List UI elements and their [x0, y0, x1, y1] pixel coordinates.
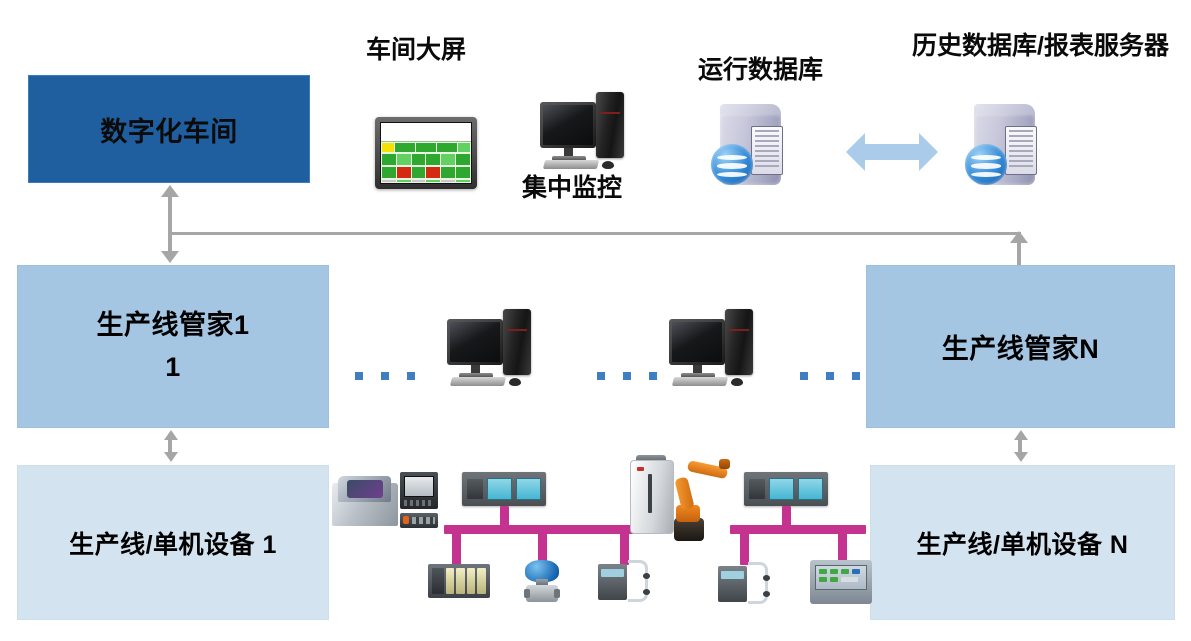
database-server-icon-runtime	[714, 104, 792, 188]
fieldbus-drop-transmitter	[538, 525, 547, 565]
box-digital-workshop[interactable]: 数字化车间	[28, 75, 310, 183]
desktop-pc-icon-line-n	[665, 305, 761, 397]
fieldbus-drop-drive-right	[740, 525, 749, 565]
fieldbus-cluster-right	[726, 472, 876, 602]
connector-line-right-lower	[1018, 439, 1022, 453]
desktop-pc-icon-line-1	[443, 305, 539, 397]
fieldbus-cluster-left	[440, 472, 640, 602]
io-module-icon	[428, 564, 490, 598]
caption-central-monitoring: 集中监控	[522, 168, 622, 204]
fieldbus-drop-drive	[620, 525, 629, 565]
box-line-manager-1-label: 生产线管家1	[96, 305, 249, 347]
fieldbus-drop-io	[452, 525, 461, 565]
box-digital-workshop-label: 数字化车间	[100, 110, 238, 149]
connector-line-left	[168, 196, 172, 252]
box-equipment-1-label: 生产线/单机设备 1	[69, 525, 277, 561]
connector-arrowhead-down-right-lower	[1014, 452, 1028, 462]
double-arrow-icon	[846, 133, 938, 171]
box-line-manager-n-label: 生产线管家N	[942, 327, 1100, 366]
ellipsis-dots-right	[800, 372, 860, 380]
operator-panel-icon	[810, 560, 872, 604]
plc-rack-icon-left	[462, 472, 546, 506]
connector-backbone-horizontal	[170, 232, 1021, 235]
desktop-pc-icon-monitoring	[536, 88, 632, 180]
pressure-transmitter-icon	[520, 560, 564, 602]
plc-rack-icon-right	[744, 472, 828, 506]
connector-arrowhead-down-left	[161, 251, 179, 263]
diagram-canvas: 车间大屏 运行数据库 历史数据库/报表服务器 数字化车间	[0, 0, 1191, 641]
box-line-manager-1-sublabel: 1	[96, 347, 249, 389]
hmi-large-screen-icon	[375, 117, 477, 189]
connector-line-right	[1017, 243, 1021, 265]
motor-drive-icon-right	[718, 562, 770, 606]
caption-history-database: 历史数据库/报表服务器	[912, 26, 1169, 62]
ellipsis-dots-left	[355, 372, 415, 380]
caption-runtime-database: 运行数据库	[698, 50, 823, 86]
motor-drive-icon-left	[598, 560, 650, 604]
ellipsis-dots-middle	[597, 372, 657, 380]
connector-line-left-lower	[168, 439, 172, 453]
caption-workshop-display: 车间大屏	[366, 30, 466, 66]
box-line-manager-n[interactable]: 生产线管家N	[866, 265, 1175, 428]
cnc-machine-icon	[332, 472, 438, 532]
connector-arrowhead-up-right	[1010, 231, 1028, 243]
fieldbus-drop-panel	[838, 525, 847, 565]
industrial-robot-icon	[630, 455, 730, 545]
database-server-icon-history	[968, 104, 1046, 188]
box-line-manager-1[interactable]: 生产线管家1 1	[17, 265, 329, 428]
connector-arrowhead-down-left-lower	[164, 452, 178, 462]
box-equipment-1[interactable]: 生产线/单机设备 1	[17, 465, 329, 620]
box-equipment-n[interactable]: 生产线/单机设备 N	[870, 465, 1175, 620]
box-equipment-n-label: 生产线/单机设备 N	[917, 525, 1129, 561]
